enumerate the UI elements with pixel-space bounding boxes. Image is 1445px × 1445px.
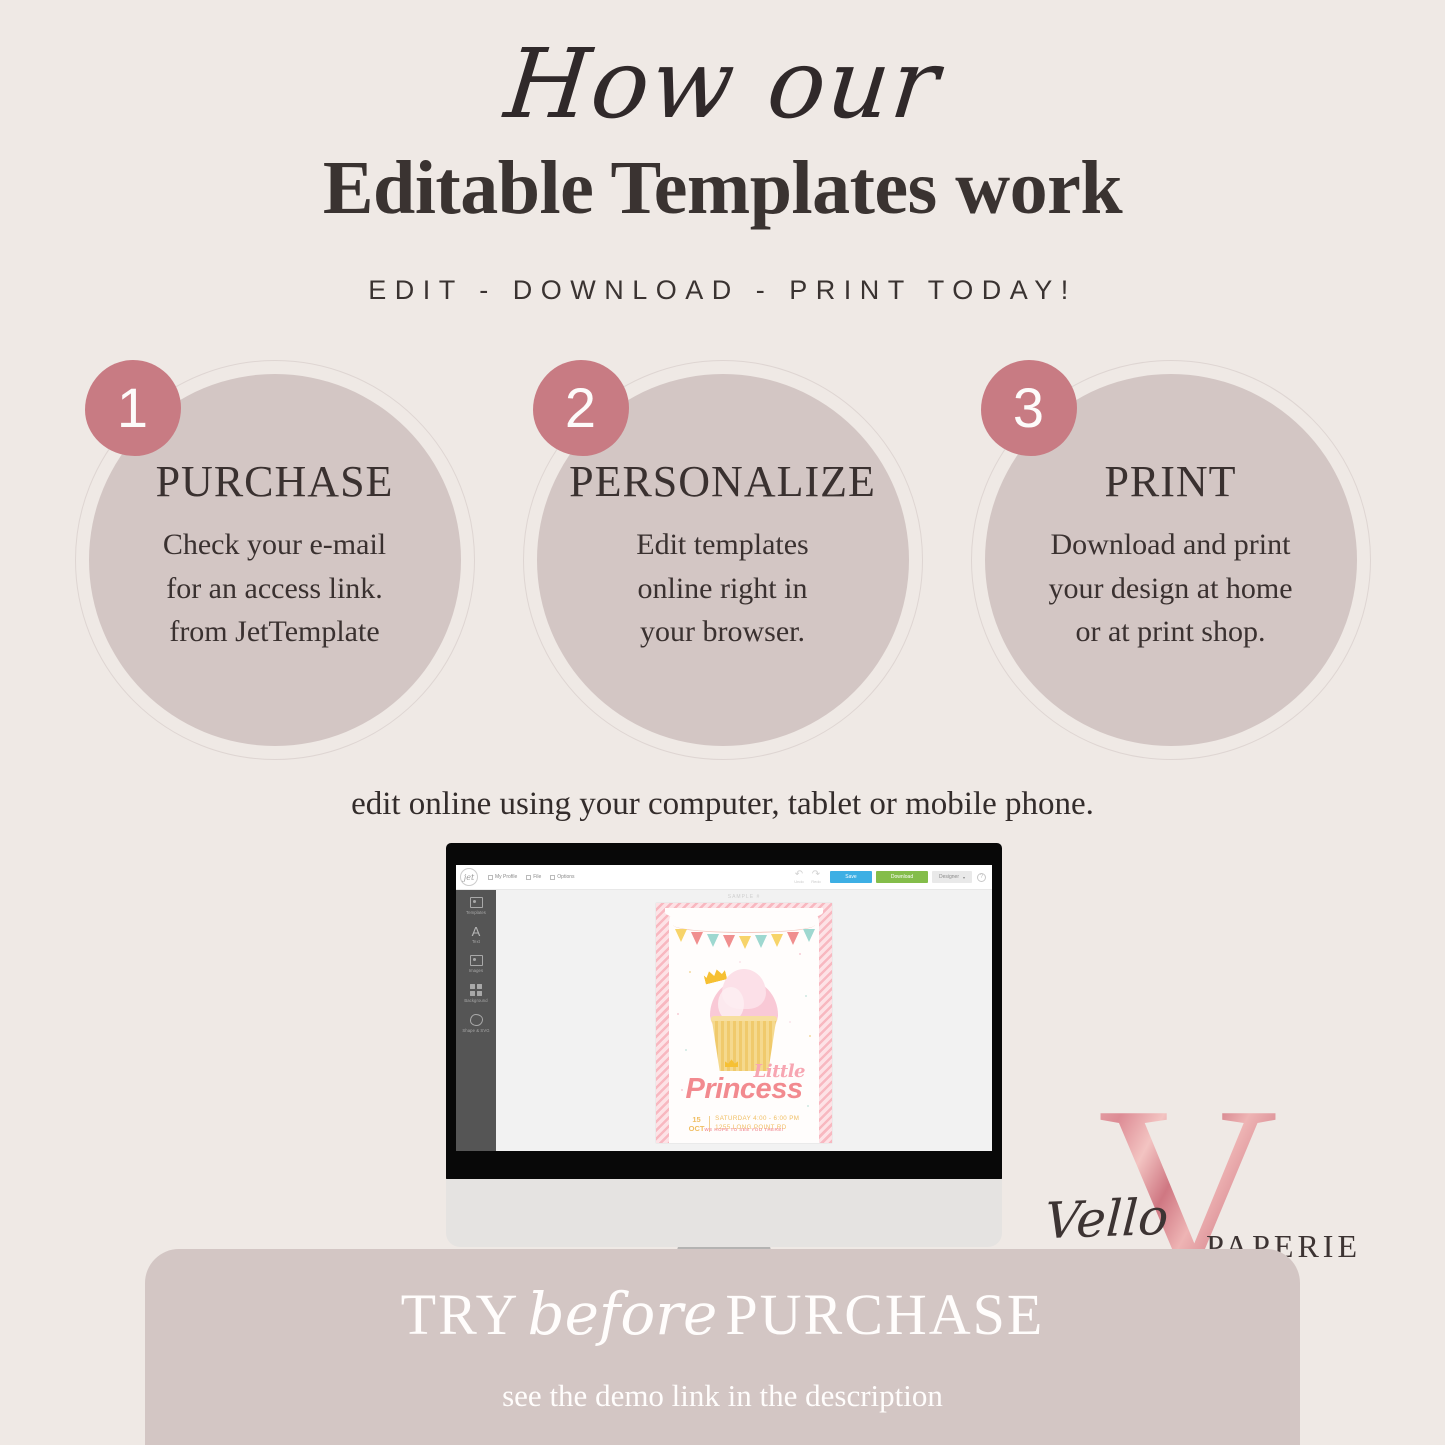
step-title-1: PURCHASE [156,456,394,507]
help-icon[interactable]: ? [977,873,986,882]
background-icon [470,984,482,996]
step-line: Edit templates [636,523,808,567]
step-card-1: PURCHASE Check your e-mail for an access… [75,360,475,760]
step-line: Download and print [1048,523,1292,567]
card-inner-panel: Little Princess 15 OCT SATURDAY 4:00 - 6… [669,909,819,1143]
person-icon [488,875,493,880]
chevron-down-icon: ▾ [963,875,965,880]
step-line: or at print shop. [1048,610,1292,654]
banner-headline: TRYbeforePURCHASE [145,1285,1300,1344]
editor-canvas[interactable]: SAMPLE # [496,890,992,1151]
step-badge-3: 3 [981,360,1077,456]
step-line: your browser. [636,610,808,654]
menu-my-profile[interactable]: My Profile [488,874,517,880]
card-footer-text: WE HOPE TO SEE YOU THERE! [669,1127,819,1132]
step-body-3: Download and print your design at home o… [1048,523,1292,654]
sidebar-label: Shape & SVG [456,1028,496,1033]
menu-label: My Profile [495,874,517,880]
sidebar-item-background[interactable]: Background [456,984,496,1003]
card-date-day: 15 [689,1115,705,1124]
menu-label: Options [557,874,574,880]
download-button[interactable]: Download [876,871,928,883]
file-icon [526,875,531,880]
sidebar-label: Background [456,998,496,1003]
step-body-1: Check your e-mail for an access link. fr… [163,523,386,654]
sidebar-label: Templates [456,910,496,915]
menu-label: File [533,874,541,880]
monitor-bezel: jet My Profile File Options ↶ Undo [446,843,1002,1181]
banner-head-part1: TRY [401,1282,520,1347]
editor-app: jet My Profile File Options ↶ Undo [456,865,992,1151]
editor-body: Templates A Text Images Background [456,890,992,1151]
step-card-2: PERSONALIZE Edit templates online right … [523,360,923,760]
shape-svg-icon [470,1014,483,1026]
page-title: Editable Templates work [0,149,1445,229]
monitor-chin [446,1179,1002,1247]
templates-icon [470,897,483,908]
editor-toolbar: jet My Profile File Options ↶ Undo [456,865,992,890]
step-line: Check your e-mail [163,523,386,567]
sidebar-item-text[interactable]: A Text [456,926,496,944]
step-line: online right in [636,567,808,611]
monitor-mockup: jet My Profile File Options ↶ Undo [446,843,1002,1315]
banner-head-script: before [519,1280,725,1348]
edit-online-note: edit online using your computer, tablet … [0,786,1445,823]
editor-sidebar: Templates A Text Images Background [456,890,496,1151]
page-header: How our Editable Templates work EDIT - D… [0,0,1445,306]
step-line: for an access link. [163,567,386,611]
undo-button[interactable]: ↶ Undo [792,869,806,884]
step-line: your design at home [1048,567,1292,611]
designer-dropdown[interactable]: Designer ▾ [932,871,972,883]
steps-row: PURCHASE Check your e-mail for an access… [0,360,1445,760]
save-button[interactable]: Save [830,871,872,883]
sidebar-item-images[interactable]: Images [456,955,496,973]
step-badge-1: 1 [85,360,181,456]
canvas-sample-label: SAMPLE # [728,894,760,900]
sidebar-label: Images [456,968,496,973]
banner-subtext: see the demo link in the description [145,1378,1300,1414]
sliders-icon [550,875,555,880]
banner-head-part2: PURCHASE [725,1282,1044,1347]
designer-label: Designer [939,874,959,880]
menu-options[interactable]: Options [550,874,574,880]
redo-label: Redo [811,879,821,884]
bottom-banner: TRYbeforePURCHASE see the demo link in t… [145,1249,1300,1445]
page-subtitle: EDIT - DOWNLOAD - PRINT TODAY! [0,275,1445,306]
sidebar-item-templates[interactable]: Templates [456,897,496,915]
jet-logo-icon[interactable]: jet [460,868,478,886]
step-body-2: Edit templates online right in your brow… [636,523,808,654]
step-title-3: PRINT [1104,456,1236,507]
bunting-garland [673,925,815,947]
sidebar-label: Text [456,939,496,944]
redo-button[interactable]: ↷ Redo [809,869,823,884]
menu-file[interactable]: File [526,874,541,880]
sidebar-item-shape-svg[interactable]: Shape & SVG [456,1014,496,1033]
text-icon: A [470,926,483,937]
step-badge-2: 2 [533,360,629,456]
step-card-3: PRINT Download and print your design at … [971,360,1371,760]
invitation-card[interactable]: Little Princess 15 OCT SATURDAY 4:00 - 6… [656,903,832,1143]
step-title-2: PERSONALIZE [569,456,876,507]
images-icon [470,955,483,966]
card-info-line1: SATURDAY 4:00 - 6:00 PM [715,1115,799,1124]
step-line: from JetTemplate [163,610,386,654]
title-script: How our [500,34,944,135]
card-princess-text: Princess [669,1073,819,1106]
brand-script-name: Vello [1043,1188,1170,1250]
undo-label: Undo [794,879,804,884]
